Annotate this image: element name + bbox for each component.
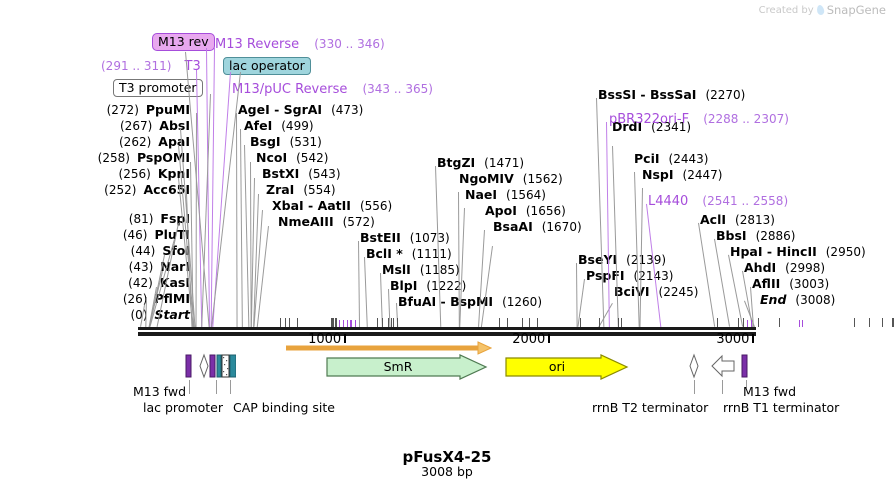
enzyme-name: BclI * <box>366 246 403 261</box>
enzyme-name: BfuAI - BspMI <box>398 294 493 309</box>
primer-label: M13/pUC Reverse <box>232 82 347 97</box>
restriction-site-tick[interactable] <box>499 318 500 327</box>
enzyme-name: PspFI <box>586 268 625 283</box>
enzyme-site[interactable]: BseYI(2139) <box>578 251 698 267</box>
enzyme-position: (2443) <box>669 152 709 166</box>
snapgene-watermark: Created by SnapGene <box>759 3 886 17</box>
enzyme-position: (252) <box>104 183 136 197</box>
svg-text:SmR: SmR <box>384 359 413 374</box>
gene-arrow-ori[interactable]: ori <box>505 354 629 380</box>
enzyme-site[interactable]: End(3008) <box>700 291 866 307</box>
enzyme-name: PciI <box>634 151 660 166</box>
primer-tick[interactable] <box>802 320 803 327</box>
plasmid-length: 3008 bp <box>0 464 894 479</box>
enzyme-name: AclI <box>700 212 726 227</box>
feature-tag-m13-rev[interactable]: M13 rev <box>152 33 215 51</box>
primer-label: L4440 <box>648 194 688 209</box>
leader-line <box>212 72 231 327</box>
primer-m13-puc-reverse[interactable]: M13/pUC Reverse (343 .. 365) <box>232 80 433 96</box>
enzyme-name: AbsI <box>159 118 190 133</box>
enzyme-name: PpuMI <box>146 102 190 117</box>
restriction-site-tick[interactable] <box>331 318 332 327</box>
enzyme-position: (1185) <box>420 263 460 277</box>
enzyme-name: NmeAIII <box>278 214 334 229</box>
lac-promoter-glyph <box>200 355 208 377</box>
enzyme-position: (81) <box>129 212 154 226</box>
enzyme-site[interactable]: NspI(2447) <box>598 166 745 182</box>
enzyme-position: (262) <box>119 135 151 149</box>
enzyme-column-1: (272)PpuMI(267)AbsI(262)ApaI(258)PspOMI(… <box>0 101 190 322</box>
leader-line <box>196 70 202 327</box>
enzyme-name: HpaI - HincII <box>730 244 817 259</box>
enzyme-site[interactable]: BstXI(543) <box>238 165 392 181</box>
enzyme-site[interactable]: (43)NarI <box>0 258 190 274</box>
restriction-site-tick[interactable] <box>738 318 739 327</box>
enzyme-name: NcoI <box>256 150 287 165</box>
restriction-site-tick[interactable] <box>391 318 392 327</box>
promoter-arrow-icon[interactable] <box>286 341 492 355</box>
leader-line <box>257 226 269 327</box>
primer-range: (2541 .. 2558) <box>702 194 788 208</box>
enzyme-position: (1260) <box>502 295 542 309</box>
enzyme-site[interactable]: (272)PpuMI <box>0 101 190 117</box>
primer-label: T3 <box>185 59 201 74</box>
glyph-stem <box>189 380 190 394</box>
primer-range: (291 .. 311) <box>101 59 171 73</box>
svg-text:ori: ori <box>549 359 565 374</box>
enzyme-column-5: BseYI(2139)PspFI(2143)BciVI(2245) <box>578 251 698 299</box>
enzyme-site[interactable]: (42)KasI <box>0 274 190 290</box>
feature-tag-t3-promoter[interactable]: T3 promoter <box>113 79 203 97</box>
enzyme-position: (1222) <box>426 279 466 293</box>
enzyme-position: (2950) <box>826 245 866 259</box>
enzyme-position: (3008) <box>795 293 835 307</box>
watermark-brand: SnapGene <box>827 3 886 17</box>
restriction-site-tick[interactable] <box>335 318 336 327</box>
enzyme-column-4: BtgZI(1471)NgoMIV(1562)NaeI(1564)ApoI(16… <box>437 154 582 234</box>
enzyme-site[interactable]: BbsI(2886) <box>700 227 866 243</box>
enzyme-name: NspI <box>642 167 674 182</box>
enzyme-name: PflMI <box>154 291 190 306</box>
enzyme-site[interactable]: BsgI(531) <box>238 133 392 149</box>
glyph-stem <box>216 380 217 394</box>
enzyme-column-7: AclI(2813)BbsI(2886)HpaI - HincII(2950)A… <box>700 211 866 307</box>
enzyme-name: Acc65I <box>143 182 190 197</box>
enzyme-site[interactable]: BclI *(1111) <box>360 245 542 261</box>
map-label-lac-promoter[interactable]: lac promoter <box>143 402 223 415</box>
enzyme-position: (543) <box>308 167 340 181</box>
enzyme-column-2: AgeI - SgrAI(473)AfeI(499)BsgI(531)NcoI(… <box>238 101 392 229</box>
enzyme-position: (272) <box>107 103 139 117</box>
restriction-site-tick[interactable] <box>854 318 855 327</box>
feature-tag-label: lac operator <box>223 57 311 75</box>
restriction-site-tick[interactable] <box>758 318 759 327</box>
enzyme-name: BbsI <box>716 228 747 243</box>
enzyme-site[interactable]: (258)PspOMI <box>0 149 190 165</box>
enzyme-position: (2245) <box>659 285 699 299</box>
enzyme-position: (2447) <box>683 168 723 182</box>
restriction-site-tick[interactable] <box>743 318 744 327</box>
enzyme-position: (554) <box>303 183 335 197</box>
restriction-site-tick[interactable] <box>377 318 378 327</box>
feature-tag-lac-operator[interactable]: lac operator <box>223 57 311 75</box>
enzyme-column-6: BssSI - BssSaI(2270)DrdI(2341)PciI(2443)… <box>598 86 745 182</box>
enzyme-position: (3003) <box>789 277 829 291</box>
enzyme-name: SfoI <box>162 243 190 258</box>
enzyme-name: ApoI <box>485 203 517 218</box>
primer-t3[interactable]: (291 .. 311) T3 <box>101 57 201 73</box>
enzyme-name: BsgI <box>250 134 281 149</box>
enzyme-name: AhdI <box>744 260 776 275</box>
enzyme-position: (44) <box>131 244 156 258</box>
enzyme-position: (2270) <box>705 88 745 102</box>
enzyme-name: KpnI <box>158 166 190 181</box>
enzyme-site[interactable]: ApoI(1656) <box>437 202 582 218</box>
primer-tick[interactable] <box>747 320 748 327</box>
enzyme-site[interactable]: AgeI - SgrAI(473) <box>238 101 392 117</box>
restriction-site-tick[interactable] <box>599 318 600 327</box>
enzyme-site[interactable]: ZraI(554) <box>238 181 392 197</box>
enzyme-name: AflII <box>752 276 780 291</box>
primer-label: pBR322ori-F <box>609 112 689 127</box>
leader-line <box>206 48 210 327</box>
primer-pbr322ori-f[interactable]: pBR322ori-F (2288 .. 2307) <box>609 110 789 126</box>
enzyme-site[interactable]: AfeI(499) <box>238 117 392 133</box>
enzyme-site[interactable]: NaeI(1564) <box>437 186 582 202</box>
restriction-site-tick[interactable] <box>869 318 870 327</box>
enzyme-position: (531) <box>290 135 322 149</box>
lac-operator-glyph <box>217 355 221 377</box>
enzyme-name: BciVI <box>614 284 650 299</box>
enzyme-site[interactable]: (256)KpnI <box>0 165 190 181</box>
misc-glyph <box>222 355 229 377</box>
primer-tick[interactable] <box>343 320 344 327</box>
restriction-site-tick[interactable] <box>393 318 394 327</box>
glyph-stem <box>722 380 723 394</box>
enzyme-site[interactable]: PspFI(2143) <box>578 267 698 283</box>
enzyme-position: (1471) <box>484 156 524 170</box>
enzyme-position: (2998) <box>785 261 825 275</box>
cap-binding-site-glyph <box>230 355 236 377</box>
enzyme-site[interactable]: (44)SfoI <box>0 242 190 258</box>
enzyme-site[interactable]: AclI(2813) <box>700 211 866 227</box>
enzyme-name: BssSI - BssSaI <box>598 87 696 102</box>
enzyme-position: (2813) <box>735 213 775 227</box>
enzyme-position: (1564) <box>506 188 546 202</box>
enzyme-position: (2143) <box>634 269 674 283</box>
leader-line <box>196 113 197 327</box>
snapgene-drop-icon <box>816 4 825 15</box>
enzyme-position: (2139) <box>626 253 666 267</box>
enzyme-name: BstEII <box>360 230 401 245</box>
m13-fwd-glyph-right <box>742 355 747 377</box>
enzyme-name: AfeI <box>244 118 272 133</box>
map-label-rrnb-t1-terminator[interactable]: rrnB T1 terminator <box>723 402 839 415</box>
restriction-site-tick[interactable] <box>537 318 538 327</box>
map-label-cap-binding-site[interactable]: CAP binding site <box>233 402 335 415</box>
rrnb-t1-terminator-glyph <box>712 356 734 376</box>
enzyme-column-3: BstEII(1073)BclI *(1111)MslI(1185)BlpI(1… <box>360 229 542 309</box>
map-label-rrnb-t2-terminator[interactable]: rrnB T2 terminator <box>592 402 708 415</box>
feature-glyph-cluster-right[interactable] <box>684 352 756 380</box>
enzyme-position: (46) <box>123 228 148 242</box>
restriction-site-tick[interactable] <box>779 318 780 327</box>
enzyme-site[interactable]: (81)FspI <box>0 210 190 226</box>
enzyme-site[interactable]: NmeAIII(572) <box>238 213 392 229</box>
enzyme-site[interactable]: BfuAI - BspMI(1260) <box>360 293 542 309</box>
enzyme-site[interactable]: BlpI(1222) <box>360 277 542 293</box>
restriction-site-tick[interactable] <box>618 318 619 327</box>
glyph-stem <box>230 380 231 394</box>
primer-tick[interactable] <box>350 320 351 327</box>
enzyme-name: KasI <box>160 275 190 290</box>
enzyme-position: (42) <box>128 276 153 290</box>
enzyme-name: End <box>760 292 786 307</box>
enzyme-name: AgeI - SgrAI <box>238 102 322 117</box>
enzyme-site[interactable]: HpaI - HincII(2950) <box>700 243 866 259</box>
enzyme-position: (26) <box>123 292 148 306</box>
feature-glyph-cluster-left[interactable] <box>180 352 236 380</box>
feature-tag-label: T3 promoter <box>113 79 203 97</box>
enzyme-name: PluTI <box>154 227 190 242</box>
enzyme-position: (1111) <box>412 247 452 261</box>
primer-tick[interactable] <box>799 320 800 327</box>
enzyme-site[interactable]: MslI(1185) <box>360 261 542 277</box>
primer-label: M13 Reverse <box>215 37 299 52</box>
restriction-site-tick[interactable] <box>382 318 383 327</box>
feature-tag-label: M13 rev <box>152 33 215 51</box>
primer-range: (330 .. 346) <box>314 37 384 51</box>
enzyme-name: NarI <box>160 259 190 274</box>
enzyme-site[interactable]: PciI(2443) <box>598 150 745 166</box>
enzyme-site[interactable]: (46)PluTI <box>0 226 190 242</box>
enzyme-site[interactable]: (267)AbsI <box>0 117 190 133</box>
cap-glyph-a <box>210 355 215 377</box>
restriction-site-tick[interactable] <box>717 318 718 327</box>
leader-line <box>634 172 640 327</box>
enzyme-site[interactable]: (26)PflMI <box>0 290 190 306</box>
primer-l4440[interactable]: L4440 (2541 .. 2558) <box>648 192 788 208</box>
enzyme-site[interactable]: BssSI - BssSaI(2270) <box>598 86 745 102</box>
leader-line <box>211 72 241 327</box>
enzyme-position: (473) <box>331 103 363 117</box>
primer-m13-reverse[interactable]: M13 Reverse (330 .. 346) <box>215 35 385 51</box>
restriction-site-tick[interactable] <box>388 318 389 327</box>
enzyme-position: (1670) <box>542 220 582 234</box>
primer-range: (2288 .. 2307) <box>703 112 789 126</box>
restriction-site-tick[interactable] <box>297 318 298 327</box>
restriction-site-tick[interactable] <box>621 318 622 327</box>
restriction-site-tick[interactable] <box>529 318 530 327</box>
enzyme-site[interactable]: NgoMIV(1562) <box>437 170 582 186</box>
leader-line <box>190 162 194 327</box>
enzyme-name: BstXI <box>262 166 299 181</box>
enzyme-site[interactable]: XbaI - AatII(556) <box>238 197 392 213</box>
restriction-site-tick[interactable] <box>336 318 337 327</box>
primer-tick[interactable] <box>751 320 752 327</box>
enzyme-name: ZraI <box>266 182 294 197</box>
m13-fwd-glyph <box>186 355 191 377</box>
enzyme-position: (499) <box>281 119 313 133</box>
gene-arrow-smr[interactable]: SmR <box>326 354 488 380</box>
enzyme-site[interactable]: BsaAI(1670) <box>437 218 582 234</box>
enzyme-name: BtgZI <box>437 155 475 170</box>
restriction-site-tick[interactable] <box>882 318 883 327</box>
restriction-site-tick[interactable] <box>289 318 290 327</box>
enzyme-name: PspOMI <box>137 150 190 165</box>
enzyme-name: NgoMIV <box>459 171 514 186</box>
enzyme-position: (43) <box>129 260 154 274</box>
enzyme-position: (267) <box>120 119 152 133</box>
enzyme-site[interactable]: NcoI(542) <box>238 149 392 165</box>
enzyme-name: NaeI <box>465 187 497 202</box>
enzyme-site[interactable]: BciVI(2245) <box>578 283 698 299</box>
enzyme-position: (258) <box>98 151 130 165</box>
enzyme-name: MslI <box>382 262 411 277</box>
restriction-site-tick[interactable] <box>580 318 581 327</box>
enzyme-name: BseYI <box>578 252 617 267</box>
enzyme-name: BlpI <box>390 278 417 293</box>
enzyme-site[interactable]: BtgZI(1471) <box>437 154 582 170</box>
map-label-m13-fwd-left[interactable]: M13 fwd <box>133 386 186 399</box>
glyph-stem <box>694 380 695 394</box>
leader-line <box>201 94 211 327</box>
leader-line <box>211 48 215 327</box>
restriction-site-tick[interactable] <box>507 318 508 327</box>
primer-tick[interactable] <box>347 320 348 327</box>
restriction-site-tick[interactable] <box>285 318 286 327</box>
enzyme-name: FspI <box>160 211 190 226</box>
primer-tick[interactable] <box>339 320 340 327</box>
restriction-site-tick[interactable] <box>280 318 281 327</box>
enzyme-site[interactable]: AflII(3003) <box>700 275 866 291</box>
restriction-site-tick[interactable] <box>522 318 523 327</box>
enzyme-name: XbaI - AatII <box>272 198 351 213</box>
map-label-m13-fwd-right[interactable]: M13 fwd <box>743 386 796 399</box>
enzyme-position: (556) <box>360 199 392 213</box>
enzyme-name: ApaI <box>158 134 190 149</box>
primer-range: (343 .. 365) <box>362 82 432 96</box>
enzyme-name: BsaAI <box>493 219 533 234</box>
enzyme-site[interactable]: AhdI(2998) <box>700 259 866 275</box>
enzyme-position: (1562) <box>523 172 563 186</box>
primer-tick[interactable] <box>355 320 356 327</box>
watermark-prefix: Created by <box>759 5 814 16</box>
restriction-site-tick[interactable] <box>397 318 398 327</box>
enzyme-position: (542) <box>296 151 328 165</box>
enzyme-position: (1656) <box>526 204 566 218</box>
enzyme-position: (572) <box>343 215 375 229</box>
enzyme-site[interactable]: (262)ApaI <box>0 133 190 149</box>
rrnb-t2-terminator-glyph <box>690 355 698 377</box>
enzyme-position: (2886) <box>756 229 796 243</box>
enzyme-site[interactable]: (252)Acc65I <box>0 181 190 197</box>
enzyme-position: (256) <box>119 167 151 181</box>
